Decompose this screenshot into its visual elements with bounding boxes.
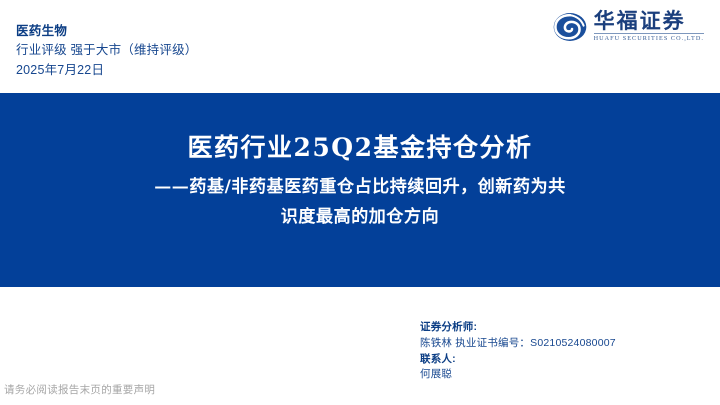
page-subtitle: ——药基/非药基医药重仓占比持续回升，创新药为共 识度最高的加仓方向 — [0, 173, 720, 233]
huafu-spiral-icon — [553, 12, 587, 42]
page-subtitle-line-2: 识度最高的加仓方向 — [56, 203, 664, 233]
page-header: 医药生物 行业评级 强于大市（维持评级） 2025年7月22日 华福证券 HUA… — [0, 0, 720, 93]
contact-label: 联系人: — [420, 352, 616, 368]
report-date: 2025年7月22日 — [16, 61, 197, 80]
footer-disclaimer: 请务必阅读报告末页的重要声明 — [4, 382, 155, 397]
logo-name-cn: 华福证券 — [594, 10, 704, 32]
contact-name: 何展聪 — [420, 367, 616, 383]
title-banner-content: 医药行业25Q2基金持仓分析 ——药基/非药基医药重仓占比持续回升，创新药为共 … — [0, 133, 720, 233]
company-logo: 华福证券 HUAFU SECURITIES CO.,LTD. — [553, 10, 704, 43]
logo-text-block: 华福证券 HUAFU SECURITIES CO.,LTD. — [594, 10, 704, 43]
industry-name: 医药生物 — [16, 22, 197, 41]
header-meta-block: 医药生物 行业评级 强于大市（维持评级） 2025年7月22日 — [16, 22, 197, 80]
report-cover-page: 医药生物 行业评级 强于大市（维持评级） 2025年7月22日 华福证券 HUA… — [0, 0, 720, 405]
page-subtitle-line-1: ——药基/非药基医药重仓占比持续回升，创新药为共 — [56, 173, 664, 203]
analyst-label: 证券分析师: — [420, 320, 616, 336]
title-banner: 医药行业25Q2基金持仓分析 ——药基/非药基医药重仓占比持续回升，创新药为共 … — [0, 93, 720, 287]
industry-rating: 行业评级 强于大市（维持评级） — [16, 41, 197, 60]
analyst-info-block: 证券分析师: 陈铁林 执业证书编号：S0210524080007 联系人: 何展… — [420, 320, 616, 383]
page-title: 医药行业25Q2基金持仓分析 — [0, 133, 720, 163]
logo-name-en: HUAFU SECURITIES CO.,LTD. — [594, 33, 704, 43]
analyst-name-and-license: 陈铁林 执业证书编号：S0210524080007 — [420, 336, 616, 352]
